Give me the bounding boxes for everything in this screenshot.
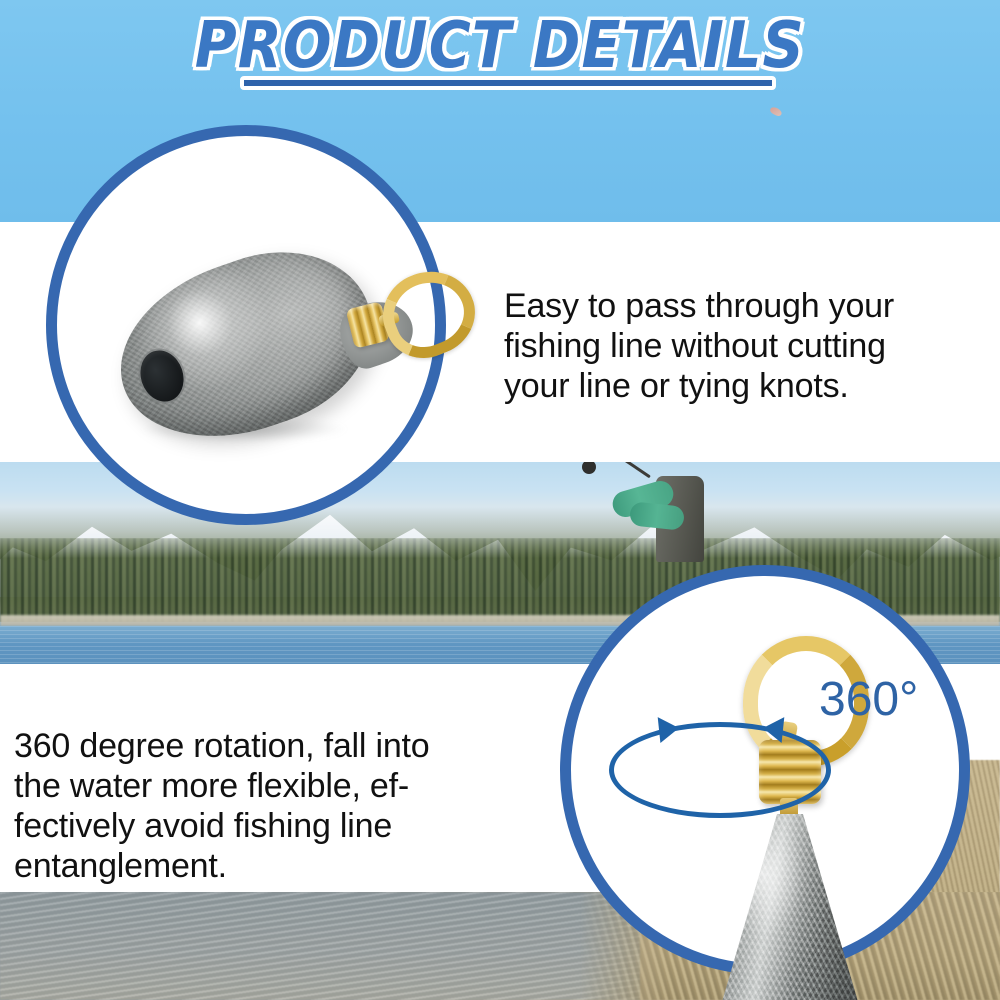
rotation-arrow-left-icon bbox=[658, 715, 681, 743]
rotation-arrow-right-icon bbox=[762, 715, 785, 743]
rotation-indicator bbox=[609, 722, 831, 818]
rotation-ellipse-icon bbox=[609, 722, 831, 818]
fishing-rod-icon bbox=[591, 462, 651, 478]
teardrop-sinker-image bbox=[117, 244, 407, 444]
angler-arm bbox=[629, 501, 685, 531]
feature-circle-rotation: 360° bbox=[560, 565, 970, 975]
feature-text-easy-pass: Easy to pass through your fishing line w… bbox=[504, 286, 984, 406]
title-underline-bar bbox=[240, 76, 776, 90]
angler-figure bbox=[600, 462, 720, 568]
degree-label: 360° bbox=[819, 676, 918, 724]
feature-text-rotation: 360 degree rotation, fall into the water… bbox=[14, 726, 524, 886]
water-ripples bbox=[0, 892, 640, 1000]
cone-sinker-texture bbox=[709, 814, 871, 1000]
product-detail-infographic: PRODUCT DETAILS Easy to pass through you… bbox=[0, 0, 1000, 1000]
page-title: PRODUCT DETAILS bbox=[195, 14, 805, 78]
fishing-reel-icon bbox=[582, 462, 596, 474]
page-title-wrap: PRODUCT DETAILS bbox=[0, 14, 1000, 68]
cone-sinker-body bbox=[709, 814, 871, 1000]
feature-circle-easy-pass bbox=[46, 125, 446, 525]
